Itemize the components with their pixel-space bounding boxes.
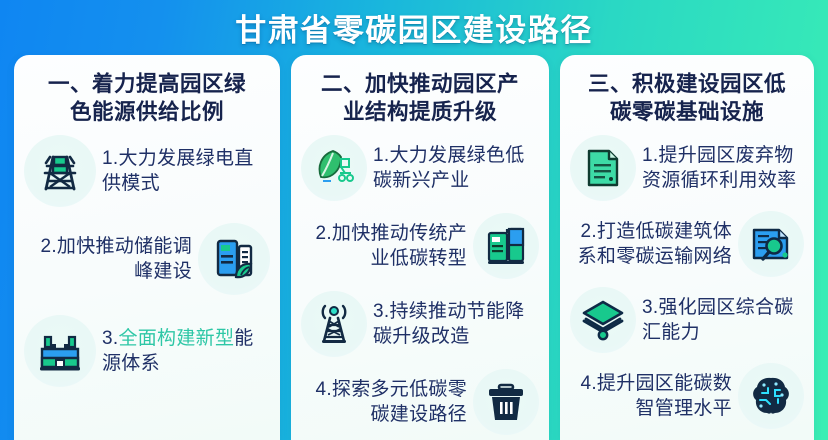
list-item[interactable]: 2.打造低碳建筑体系和零碳运输网络	[570, 211, 804, 277]
power-plant-icon	[24, 315, 96, 387]
signal-tower-icon	[301, 291, 367, 357]
heading-line: 业结构提质升级	[305, 99, 535, 127]
page-title: 甘肃省零碳园区建设路径	[235, 5, 593, 50]
heading-line: 碳零碳基础设施	[574, 99, 800, 127]
energy-storage-icon	[198, 223, 270, 295]
column-3-heading: 三、积极建设园区低 碳零碳基础设施	[570, 69, 804, 127]
document-icon	[570, 135, 636, 201]
item-number: 3.	[102, 328, 118, 349]
column-2-items: 1.大力发展绿色低碳新兴产业	[301, 135, 539, 435]
column-2-heading: 二、加快推动园区产 业结构提质升级	[301, 69, 539, 127]
factory-buildings-icon	[473, 213, 539, 279]
list-item-label: 1.大力发展绿色低碳新兴产业	[373, 143, 539, 193]
ai-brain-icon	[738, 363, 804, 429]
list-item[interactable]: 4.探索多元低碳零碳建设路径	[301, 369, 539, 435]
title-bar: 甘肃省零碳园区建设路径	[0, 0, 828, 55]
list-item[interactable]: 1.大力发展绿电直供模式	[24, 135, 270, 207]
list-item-label: 3.强化园区综合碳汇能力	[642, 295, 804, 345]
columns-container: 一、着力提高园区绿 色能源供给比例 1.	[14, 55, 814, 440]
list-item-label: 3.全面构建新型能源体系	[102, 326, 270, 376]
list-item[interactable]: 3.持续推动节能降碳升级改造	[301, 291, 539, 357]
item-highlight: 全面构建新型	[118, 328, 234, 349]
heading-line: 色能源供给比例	[28, 99, 266, 127]
infographic-root: 甘肃省零碳园区建设路径 一、着力提高园区绿 色能源供给比例	[0, 0, 828, 440]
heading-line: 二、加快推动园区产	[305, 71, 535, 99]
list-item[interactable]: 4.提升园区能碳数智管理水平	[570, 363, 804, 429]
list-item-label: 2.加快推动传统产业低碳转型	[301, 221, 467, 271]
list-item[interactable]: 1.提升园区废弃物资源循环利用效率	[570, 135, 804, 201]
list-item-label: 2.打造低碳建筑体系和零碳运输网络	[570, 219, 732, 269]
document-search-icon	[738, 211, 804, 277]
column-3-items: 1.提升园区废弃物资源循环利用效率	[570, 135, 804, 429]
column-1-items: 1.大力发展绿电直供模式	[24, 135, 270, 387]
list-item[interactable]: 2.加快推动传统产业低碳转型	[301, 213, 539, 279]
column-card-2: 二、加快推动园区产 业结构提质升级	[291, 55, 549, 440]
trash-bin-icon	[473, 369, 539, 435]
heading-line: 一、着力提高园区绿	[28, 71, 266, 99]
list-item-label: 4.探索多元低碳零碳建设路径	[301, 377, 467, 427]
column-card-3: 三、积极建设园区低 碳零碳基础设施 1.	[560, 55, 814, 440]
list-item[interactable]: 1.大力发展绿色低碳新兴产业	[301, 135, 539, 201]
layers-icon	[570, 287, 636, 353]
list-item-label: 2.加快推动储能调峰建设	[24, 234, 192, 284]
list-item[interactable]: 2.加快推动储能调峰建设	[24, 223, 270, 295]
column-card-1: 一、着力提高园区绿 色能源供给比例 1.	[14, 55, 280, 440]
list-item[interactable]: 3.全面构建新型能源体系	[24, 315, 270, 387]
green-leaf-icon	[301, 135, 367, 201]
power-tower-icon	[24, 135, 96, 207]
list-item-label: 3.持续推动节能降碳升级改造	[373, 299, 539, 349]
heading-line: 三、积极建设园区低	[574, 71, 800, 99]
list-item[interactable]: 3.强化园区综合碳汇能力	[570, 287, 804, 353]
column-1-heading: 一、着力提高园区绿 色能源供给比例	[24, 69, 270, 127]
list-item-label: 1.大力发展绿电直供模式	[102, 146, 270, 196]
list-item-label: 1.提升园区废弃物资源循环利用效率	[642, 143, 804, 193]
list-item-label: 4.提升园区能碳数智管理水平	[570, 371, 732, 421]
